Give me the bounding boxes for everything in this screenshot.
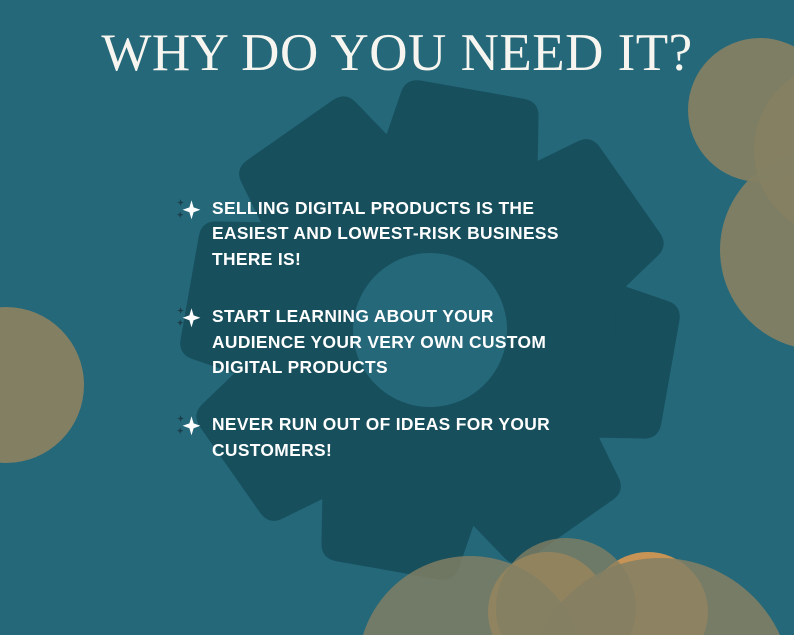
list-item-text: START LEARNING ABOUT YOUR AUDIENCE YOUR …: [212, 304, 546, 380]
bullet-list: SELLING DIGITAL PRODUCTS IS THE EASIEST …: [176, 196, 606, 463]
list-item: NEVER RUN OUT OF IDEAS FOR YOUR CUSTOMER…: [176, 412, 606, 463]
sparkle-icon: [176, 413, 202, 439]
list-item-text: SELLING DIGITAL PRODUCTS IS THE EASIEST …: [212, 196, 559, 272]
page-title: WHY DO YOU NEED IT?: [0, 26, 794, 82]
list-item: START LEARNING ABOUT YOUR AUDIENCE YOUR …: [176, 304, 606, 380]
sparkle-icon: [176, 197, 202, 223]
slide-canvas: WHY DO YOU NEED IT? SELLING DIGITAL PROD…: [0, 0, 794, 635]
sparkle-icon: [176, 305, 202, 331]
list-item: SELLING DIGITAL PRODUCTS IS THE EASIEST …: [176, 196, 606, 272]
list-item-text: NEVER RUN OUT OF IDEAS FOR YOUR CUSTOMER…: [212, 412, 550, 463]
